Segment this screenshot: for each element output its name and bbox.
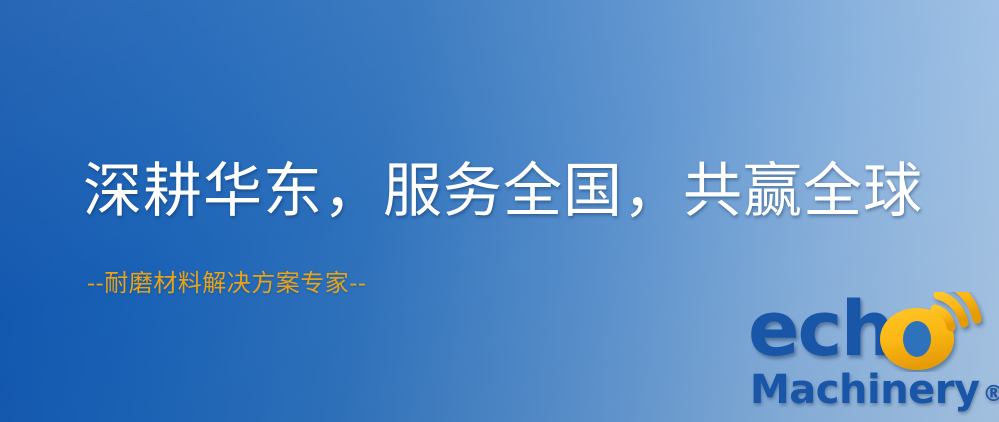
logo-text-machinery: Machinery xyxy=(750,367,980,413)
echo-machinery-logo: ech xyxy=(744,294,994,420)
logo-text-ech: ech xyxy=(748,286,893,372)
logo-registered-trademark-symbol: ® xyxy=(983,382,999,407)
logo-text-machinery-row: Machinery® xyxy=(750,366,999,419)
banner-headline: 深耕华东，服务全国，共赢全球 xyxy=(83,156,923,226)
logo-o-with-signal-waves-icon xyxy=(877,292,994,372)
logo-o-ring-inner-hole xyxy=(903,321,931,357)
logo-wordmark-row: ech xyxy=(744,294,994,370)
promotional-banner: 深耕华东，服务全国，共赢全球 --耐磨材料解决方案专家-- ech xyxy=(0,0,999,422)
banner-subtitle: --耐磨材料解决方案专家-- xyxy=(87,268,366,298)
